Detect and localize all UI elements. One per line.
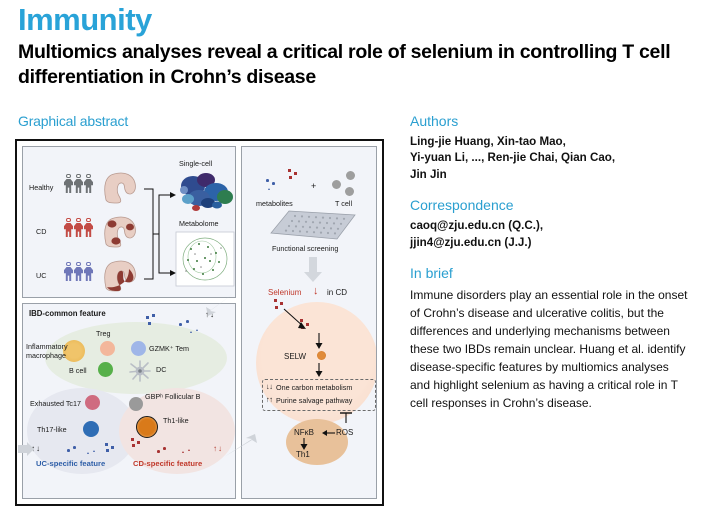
cell-exhausted-tc17 bbox=[85, 395, 100, 410]
cell-treg bbox=[100, 341, 115, 356]
output-label-metabolome: Metabolome bbox=[179, 219, 219, 228]
cell-b-cell bbox=[98, 362, 113, 377]
label-exhausted-tc17: Exhausted Tc17 bbox=[30, 399, 81, 408]
label-th17-like: Th17-like bbox=[37, 425, 67, 434]
label-functional-screening: Functional screening bbox=[272, 244, 338, 253]
authors-heading: Authors bbox=[410, 113, 690, 129]
selenium-down-arrow: ↓ bbox=[313, 285, 319, 297]
graphical-abstract-figure: Healthy CD UC bbox=[15, 139, 384, 506]
cohort-label-healthy: Healthy bbox=[29, 183, 53, 192]
in-brief-text: Immune disorders play an essential role … bbox=[410, 286, 690, 412]
cd-arrows: ↑↓ bbox=[213, 444, 223, 453]
inhibition-connector bbox=[338, 409, 354, 425]
microplate-icon bbox=[269, 209, 357, 241]
label-gbp-follicular-b: GBPʰ Follicular B bbox=[145, 392, 200, 401]
label-in-cd: in CD bbox=[327, 288, 347, 297]
colon-illustration-uc bbox=[99, 257, 143, 293]
pathway-up-arrows: ↑↑ bbox=[266, 395, 273, 404]
authors-block: Authors Ling-jie Huang, Xin-tao Mao, Yi-… bbox=[410, 113, 690, 183]
label-one-carbon-metabolism: One carbon metabolism bbox=[276, 383, 352, 392]
cell-th1-like bbox=[136, 416, 158, 438]
authors-line-3: Jin Jin bbox=[410, 167, 690, 183]
uc-arrows: ↑↓ bbox=[31, 444, 41, 453]
label-t-cell: T cell bbox=[335, 199, 352, 208]
common-dot-cluster bbox=[143, 314, 213, 340]
cohort-label-cd: CD bbox=[36, 227, 46, 236]
people-icon-healthy bbox=[64, 174, 94, 198]
arrow-down-to-pathways bbox=[314, 363, 324, 379]
cd-specific-feature-title: CD-specific feature bbox=[133, 459, 202, 468]
correspondence-heading: Correspondence bbox=[410, 197, 690, 213]
selenium-uptake-arrow bbox=[282, 307, 316, 337]
label-selenium: Selenium bbox=[268, 288, 301, 297]
colon-illustration-healthy bbox=[99, 169, 143, 205]
pathway-down-arrows: ↓↓ bbox=[266, 382, 273, 391]
label-dc: DC bbox=[156, 365, 166, 374]
correspondence-email-1[interactable]: caoq@zju.edu.cn (Q.C.), bbox=[410, 218, 690, 234]
metabolite-dot-cluster bbox=[264, 169, 310, 195]
people-icon-uc bbox=[64, 262, 94, 286]
umap-plot bbox=[175, 170, 235, 217]
people-icon-cd bbox=[64, 218, 94, 242]
arrow-down-to-selw bbox=[314, 333, 324, 351]
cell-gbp-follicular-b bbox=[129, 397, 143, 411]
correspondence-block: Correspondence caoq@zju.edu.cn (Q.C.), j… bbox=[410, 197, 690, 251]
metabolome-network-plot bbox=[175, 231, 235, 287]
mechanism-panel: metabolites + T cell bbox=[241, 146, 377, 499]
cell-gzmk-tem bbox=[131, 341, 146, 356]
selw-protein-icon bbox=[317, 351, 326, 360]
cell-th17-like bbox=[83, 421, 99, 437]
label-selw: SELW bbox=[284, 352, 306, 361]
authors-line-1: Ling-jie Huang, Xin-tao Mao, bbox=[410, 134, 690, 150]
uc-specific-feature-title: UC-specific feature bbox=[36, 459, 105, 468]
arrow-ros-to-nfkb bbox=[322, 429, 336, 437]
cohort-label-uc: UC bbox=[36, 271, 46, 280]
label-b-cell: B cell bbox=[69, 366, 87, 375]
output-label-single-cell: Single-cell bbox=[179, 159, 212, 168]
label-th1: Th1 bbox=[296, 450, 310, 459]
label-treg: Treg bbox=[96, 329, 111, 338]
in-brief-block: In brief Immune disorders play an essent… bbox=[410, 265, 690, 412]
label-gzmk-tem: GZMK⁺ Tem bbox=[149, 344, 189, 353]
correspondence-email-2[interactable]: jjin4@zju.edu.cn (J.J.) bbox=[410, 235, 690, 251]
label-plus: + bbox=[311, 181, 316, 191]
authors-line-2: Yi-yuan Li, ..., Ren-jie Chai, Qian Cao, bbox=[410, 150, 690, 166]
label-inflammatory-macrophage-1: Inflammatory bbox=[26, 342, 68, 351]
label-metabolites: metabolites bbox=[256, 199, 293, 208]
cell-dendritic-dc bbox=[128, 359, 152, 383]
label-ros: ROS bbox=[336, 428, 353, 437]
in-brief-heading: In brief bbox=[410, 265, 690, 281]
colon-illustration-cd bbox=[99, 213, 143, 249]
grey-arrow-down-icon bbox=[304, 257, 322, 283]
feature-panel: IBD-common feature Inflammatory macropha… bbox=[22, 303, 236, 499]
label-nfkb: NFκB bbox=[294, 428, 314, 437]
journal-masthead: Immunity bbox=[18, 4, 152, 35]
label-purine-salvage-pathway: Purine salvage pathway bbox=[276, 396, 352, 405]
graphical-abstract-heading: Graphical abstract bbox=[18, 113, 128, 129]
article-title: Multiomics analyses reveal a critical ro… bbox=[18, 40, 683, 91]
label-th1-like: Th1-like bbox=[163, 416, 189, 425]
ibd-common-feature-title: IBD-common feature bbox=[29, 309, 106, 318]
cohort-panel: Healthy CD UC bbox=[22, 146, 236, 298]
label-inflammatory-macrophage-2: macrophage bbox=[26, 351, 66, 360]
bracket-arrows bbox=[143, 181, 177, 287]
